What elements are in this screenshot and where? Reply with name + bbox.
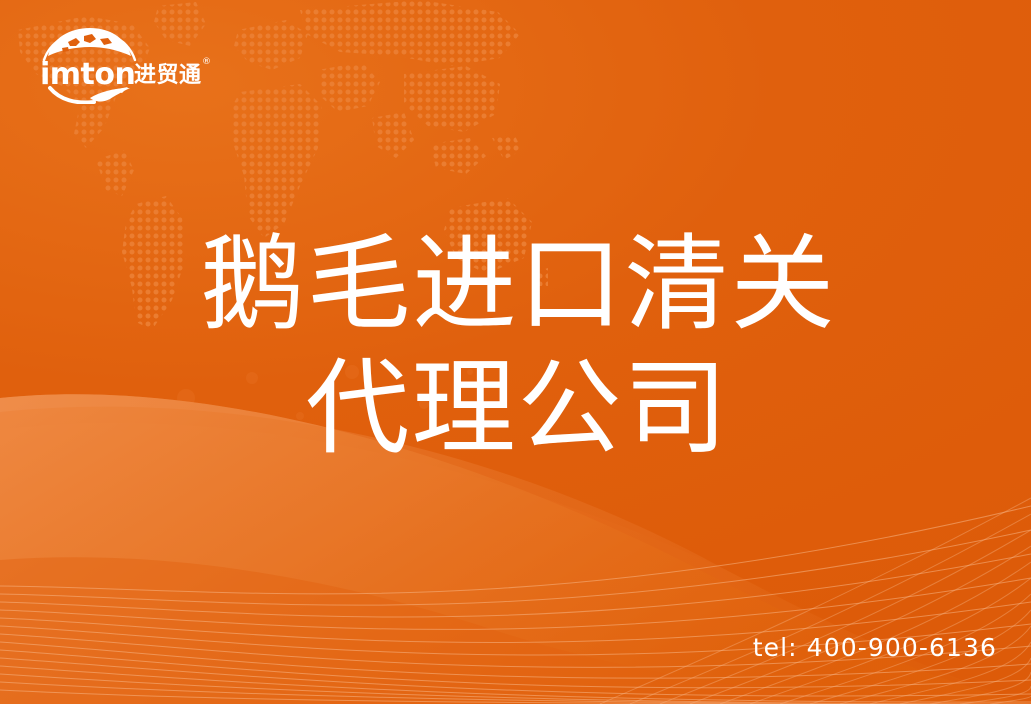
contact-phone[interactable]: tel: 400-900-6136: [753, 633, 997, 663]
company-logo[interactable]: imton 进贸通 ®: [38, 26, 214, 104]
headline-line-1: 鹅毛进口清关: [0, 222, 1031, 346]
page-title: 鹅毛进口清关 代理公司: [0, 222, 1031, 470]
registered-trademark-icon: ®: [202, 57, 211, 67]
globe-icon: [44, 28, 135, 60]
contact-phone-text: tel: 400-900-6136: [753, 633, 997, 662]
logo-chinese-name: 进贸通: [134, 63, 202, 88]
logo-wordmark: imton: [40, 57, 135, 92]
headline-line-2: 代理公司: [0, 346, 1031, 470]
promotional-banner: imton 进贸通 ® 鹅毛进口清关 代理公司 tel: 400-900-613…: [0, 0, 1031, 704]
